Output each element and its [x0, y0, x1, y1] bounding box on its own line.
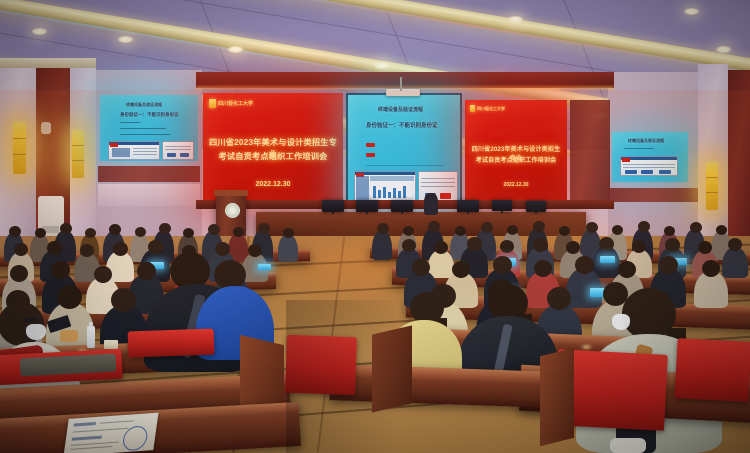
logo-mark-icon — [209, 99, 216, 108]
right-display-screen: 四川轻化工大学 四川省2023年美术与设计类招生专业 考试自贡考点组织工作培训会… — [465, 100, 567, 206]
downlight — [118, 36, 133, 43]
hand — [60, 330, 78, 342]
monitor — [356, 200, 378, 212]
wall-panel — [98, 184, 200, 206]
monitor — [391, 200, 413, 212]
wall-wood-band — [610, 188, 698, 202]
podium-emblem-icon — [225, 203, 240, 218]
projector-mount — [400, 77, 402, 91]
slide-screenshot — [620, 156, 678, 176]
desk-end-panel — [540, 348, 574, 446]
logo-text: 四川轻化工大学 — [477, 106, 505, 112]
logo-text: 四川轻化工大学 — [218, 100, 253, 107]
right-side-display-screen: 终端设备及验证流程 — [612, 132, 688, 182]
monitor — [322, 200, 344, 212]
monitor — [457, 200, 479, 212]
left-screen-subheading: 身份验证一：不能识别身份证 — [120, 112, 179, 118]
center-presentation-screen: 终端设备及验证流程 身份验证一：不能识别身份证 — [348, 95, 460, 207]
wall-sconce-3 — [706, 162, 718, 210]
auditorium-photo: 终端设备及验证流程 身份验证一：不能识别身份证 终端设备及验证流程 — [0, 0, 750, 453]
logo-mark-icon — [470, 105, 475, 112]
wall-wood-band — [98, 166, 200, 182]
seat-back[interactable] — [674, 338, 750, 402]
monitor — [526, 201, 546, 212]
side-screen-heading: 终端设备及验证流程 — [628, 138, 664, 144]
monitor — [492, 200, 512, 211]
center-screen-heading: 终端设备及验证流程 — [378, 106, 423, 113]
downlight — [374, 62, 389, 69]
bullet-marker — [366, 153, 375, 157]
aisle-shadow — [286, 300, 396, 453]
downlight — [32, 28, 47, 35]
main-screen-date: 2022.12.30 — [203, 181, 343, 188]
downlight — [508, 16, 523, 23]
left-screen-heading: 终端设备及验证流程 — [126, 102, 162, 108]
university-logo: 四川轻化工大学 — [209, 99, 253, 108]
wall-trim — [0, 58, 96, 68]
podium-top — [214, 190, 248, 196]
downlight — [228, 46, 243, 53]
shoe — [610, 438, 646, 453]
presenter-silhouette — [424, 193, 438, 215]
wall-sconce-1 — [13, 122, 26, 174]
downlight — [716, 46, 731, 53]
wall-sconce-2 — [72, 130, 84, 178]
center-screen-subheading: 身份验证一：不能识别身份证 — [366, 121, 438, 129]
downlight — [684, 8, 699, 15]
right-screen-title-line2: 考试自贡考点组织工作培训会 — [469, 157, 563, 166]
bullet-marker — [366, 143, 375, 147]
seat-back[interactable] — [128, 329, 215, 358]
handout-document-front[interactable] — [63, 413, 158, 453]
stage-side-wood — [570, 100, 610, 208]
university-logo: 四川轻化工大学 — [470, 105, 505, 112]
projector — [386, 89, 420, 96]
slide-sidebox — [162, 141, 194, 160]
right-screen-date: 2022.12.30 — [465, 182, 567, 188]
main-screen-title-line2: 考试自贡考点组织工作培训会 — [209, 151, 338, 163]
left-display-screen: 终端设备及验证流程 身份验证一：不能识别身份证 — [100, 95, 198, 161]
wall-speaker — [41, 122, 51, 134]
slide-screenshot — [108, 141, 160, 160]
